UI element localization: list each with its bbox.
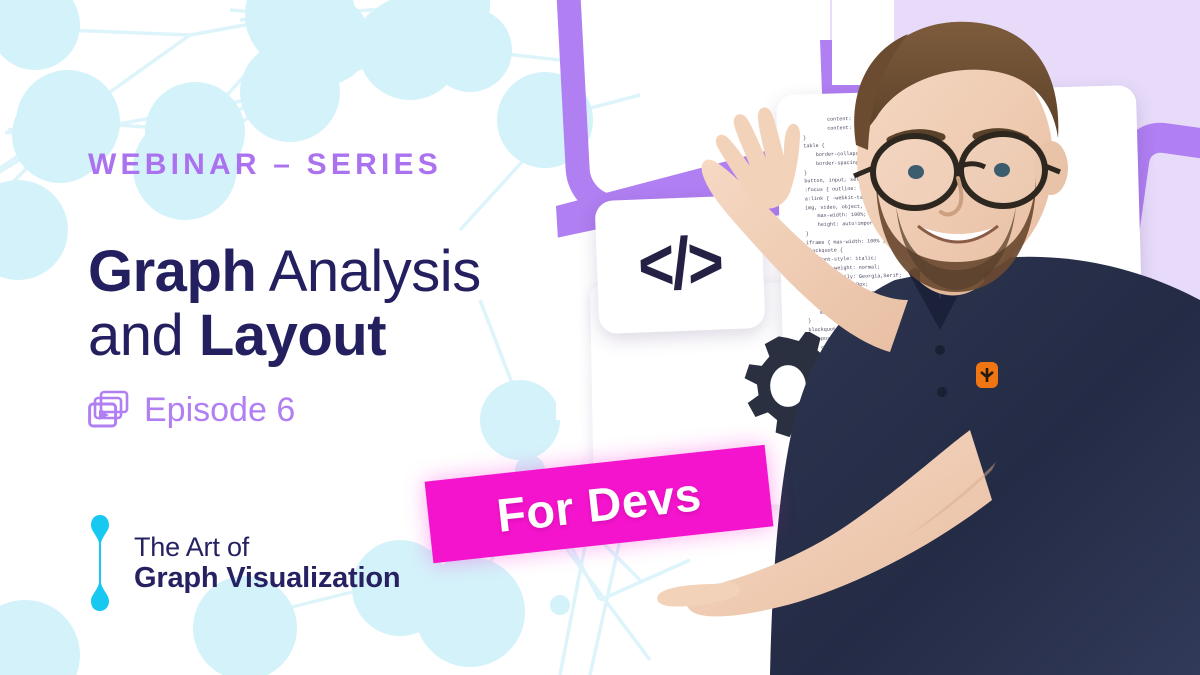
- video-stack-play-icon: [88, 390, 130, 430]
- brand-lockup: The Art of Graph Visualization: [88, 513, 400, 613]
- presenter-photo: [640, 0, 1200, 675]
- webinar-title-card: </> content: ''; content: none; } table …: [0, 0, 1200, 675]
- brand-text: The Art of Graph Visualization: [134, 532, 400, 595]
- title-regular-analysis: Analysis: [256, 239, 480, 304]
- brand-line-1: The Art of: [134, 532, 400, 562]
- shirt-button: [935, 345, 945, 355]
- for-devs-label: For Devs: [494, 466, 704, 543]
- episode-label: Episode 6: [144, 393, 295, 427]
- title-regular-and: and: [88, 303, 199, 368]
- brand-line-2: Graph Visualization: [134, 562, 400, 594]
- title-bold-graph: Graph: [88, 239, 256, 304]
- episode-row: Episode 6: [88, 390, 558, 430]
- title-bold-layout: Layout: [199, 303, 386, 368]
- eye-left: [908, 165, 924, 179]
- left-text-block: WEBINAR – SERIES Graph Analysis and Layo…: [88, 150, 558, 430]
- eyebrow-label: WEBINAR – SERIES: [88, 150, 558, 180]
- shirt-button: [937, 387, 947, 397]
- eye-right: [994, 163, 1010, 177]
- page-title: Graph Analysis and Layout: [88, 240, 558, 368]
- teardrop-edge-icon: [88, 513, 112, 613]
